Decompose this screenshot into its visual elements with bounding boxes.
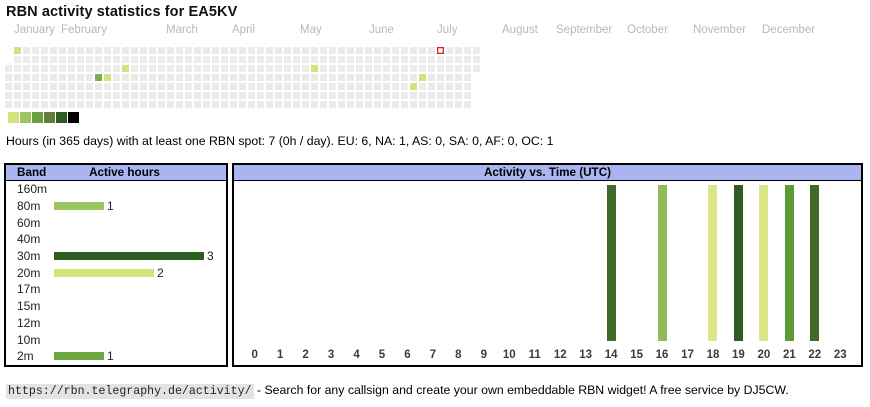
heatmap-day[interactable] bbox=[248, 56, 255, 63]
heatmap-day[interactable] bbox=[23, 92, 30, 99]
heatmap-day[interactable] bbox=[95, 56, 102, 63]
heatmap-day[interactable] bbox=[383, 92, 390, 99]
heatmap-day[interactable] bbox=[221, 65, 228, 72]
heatmap-day[interactable] bbox=[158, 65, 165, 72]
heatmap-day[interactable] bbox=[41, 83, 48, 90]
heatmap-day[interactable] bbox=[113, 56, 120, 63]
heatmap-day[interactable] bbox=[446, 65, 453, 72]
heatmap-day[interactable] bbox=[140, 92, 147, 99]
heatmap-day[interactable] bbox=[68, 65, 75, 72]
heatmap-day[interactable] bbox=[419, 56, 426, 63]
heatmap-day[interactable] bbox=[59, 101, 66, 108]
heatmap-day[interactable] bbox=[122, 56, 129, 63]
heatmap-day[interactable] bbox=[95, 83, 102, 90]
heatmap-day[interactable] bbox=[392, 47, 399, 54]
heatmap-day[interactable] bbox=[77, 56, 84, 63]
heatmap-day[interactable] bbox=[266, 56, 273, 63]
heatmap-day[interactable] bbox=[428, 92, 435, 99]
heatmap-day[interactable] bbox=[77, 47, 84, 54]
heatmap-day[interactable] bbox=[239, 101, 246, 108]
heatmap-day[interactable] bbox=[293, 65, 300, 72]
heatmap-day[interactable] bbox=[455, 92, 462, 99]
heatmap-day[interactable] bbox=[356, 83, 363, 90]
heatmap-day[interactable] bbox=[95, 65, 102, 72]
heatmap-day[interactable] bbox=[131, 47, 138, 54]
heatmap-day[interactable] bbox=[203, 74, 210, 81]
heatmap-day[interactable] bbox=[14, 101, 21, 108]
heatmap-day[interactable] bbox=[284, 47, 291, 54]
heatmap-day[interactable] bbox=[122, 83, 129, 90]
heatmap-day[interactable] bbox=[176, 47, 183, 54]
heatmap-day[interactable] bbox=[32, 101, 39, 108]
heatmap-day[interactable] bbox=[419, 47, 426, 54]
heatmap-day[interactable] bbox=[320, 101, 327, 108]
heatmap-day[interactable] bbox=[311, 56, 318, 63]
heatmap-day-active[interactable] bbox=[311, 65, 318, 72]
heatmap-day[interactable] bbox=[248, 83, 255, 90]
heatmap-day[interactable] bbox=[5, 83, 12, 90]
heatmap-day[interactable] bbox=[446, 83, 453, 90]
heatmap-day[interactable] bbox=[194, 56, 201, 63]
heatmap-day[interactable] bbox=[104, 65, 111, 72]
heatmap-day[interactable] bbox=[338, 92, 345, 99]
heatmap-day[interactable] bbox=[14, 65, 21, 72]
heatmap-day-active[interactable] bbox=[419, 74, 426, 81]
heatmap-day[interactable] bbox=[257, 74, 264, 81]
heatmap-day[interactable] bbox=[365, 74, 372, 81]
heatmap-day[interactable] bbox=[167, 92, 174, 99]
heatmap-day[interactable] bbox=[239, 65, 246, 72]
heatmap-day[interactable] bbox=[77, 83, 84, 90]
heatmap-day[interactable] bbox=[68, 47, 75, 54]
heatmap-day[interactable] bbox=[302, 83, 309, 90]
heatmap-day[interactable] bbox=[41, 74, 48, 81]
heatmap-day[interactable] bbox=[68, 92, 75, 99]
heatmap-day[interactable] bbox=[176, 74, 183, 81]
heatmap-day[interactable] bbox=[140, 101, 147, 108]
heatmap-day[interactable] bbox=[374, 74, 381, 81]
heatmap-day[interactable] bbox=[473, 47, 480, 54]
heatmap-day[interactable] bbox=[257, 83, 264, 90]
heatmap-day[interactable] bbox=[275, 92, 282, 99]
heatmap-day[interactable] bbox=[50, 56, 57, 63]
heatmap-day[interactable] bbox=[23, 65, 30, 72]
heatmap-day[interactable] bbox=[248, 92, 255, 99]
heatmap-day[interactable] bbox=[257, 92, 264, 99]
heatmap-day[interactable] bbox=[230, 74, 237, 81]
heatmap-day-active[interactable] bbox=[95, 74, 102, 81]
heatmap-day[interactable] bbox=[257, 47, 264, 54]
heatmap-day[interactable] bbox=[419, 101, 426, 108]
heatmap-day[interactable] bbox=[446, 101, 453, 108]
heatmap-day[interactable] bbox=[104, 101, 111, 108]
heatmap-day[interactable] bbox=[194, 92, 201, 99]
heatmap-day[interactable] bbox=[284, 92, 291, 99]
heatmap-day[interactable] bbox=[95, 101, 102, 108]
heatmap-day[interactable] bbox=[293, 92, 300, 99]
heatmap-day[interactable] bbox=[374, 83, 381, 90]
heatmap-day[interactable] bbox=[185, 83, 192, 90]
heatmap-day[interactable] bbox=[338, 47, 345, 54]
heatmap-day[interactable] bbox=[176, 101, 183, 108]
heatmap-day[interactable] bbox=[23, 83, 30, 90]
heatmap-day[interactable] bbox=[266, 101, 273, 108]
heatmap-day[interactable] bbox=[176, 56, 183, 63]
heatmap-day[interactable] bbox=[140, 56, 147, 63]
heatmap-day[interactable] bbox=[356, 65, 363, 72]
heatmap-day[interactable] bbox=[122, 74, 129, 81]
heatmap-day[interactable] bbox=[302, 65, 309, 72]
heatmap-day[interactable] bbox=[140, 47, 147, 54]
heatmap-day[interactable] bbox=[329, 65, 336, 72]
heatmap-day[interactable] bbox=[464, 101, 471, 108]
heatmap-day[interactable] bbox=[392, 92, 399, 99]
heatmap-day[interactable] bbox=[293, 101, 300, 108]
heatmap-day[interactable] bbox=[104, 92, 111, 99]
heatmap-day[interactable] bbox=[401, 56, 408, 63]
heatmap-day[interactable] bbox=[338, 65, 345, 72]
heatmap-day[interactable] bbox=[374, 65, 381, 72]
heatmap-day[interactable] bbox=[239, 56, 246, 63]
heatmap-day[interactable] bbox=[212, 74, 219, 81]
heatmap-day[interactable] bbox=[275, 83, 282, 90]
heatmap-day[interactable] bbox=[239, 92, 246, 99]
heatmap-day[interactable] bbox=[221, 92, 228, 99]
heatmap-day[interactable] bbox=[392, 83, 399, 90]
heatmap-day[interactable] bbox=[446, 92, 453, 99]
heatmap-day[interactable] bbox=[203, 47, 210, 54]
heatmap-day[interactable] bbox=[248, 101, 255, 108]
heatmap-day[interactable] bbox=[419, 65, 426, 72]
activity-bar[interactable] bbox=[759, 185, 768, 341]
heatmap-day-active[interactable] bbox=[122, 65, 129, 72]
heatmap-day[interactable] bbox=[284, 101, 291, 108]
heatmap-day[interactable] bbox=[455, 47, 462, 54]
activity-bar[interactable] bbox=[708, 185, 717, 341]
heatmap-day[interactable] bbox=[203, 92, 210, 99]
heatmap-day[interactable] bbox=[185, 92, 192, 99]
heatmap-day[interactable] bbox=[437, 74, 444, 81]
heatmap-day[interactable] bbox=[455, 65, 462, 72]
heatmap-day[interactable] bbox=[464, 56, 471, 63]
heatmap-day[interactable] bbox=[275, 47, 282, 54]
heatmap-day[interactable] bbox=[473, 65, 480, 72]
heatmap-day[interactable] bbox=[302, 101, 309, 108]
heatmap-day[interactable] bbox=[86, 83, 93, 90]
heatmap-day[interactable] bbox=[410, 101, 417, 108]
heatmap-day[interactable] bbox=[104, 47, 111, 54]
heatmap-day[interactable] bbox=[437, 65, 444, 72]
heatmap-day[interactable] bbox=[113, 65, 120, 72]
heatmap-day[interactable] bbox=[455, 56, 462, 63]
heatmap-day[interactable] bbox=[32, 83, 39, 90]
heatmap-day[interactable] bbox=[365, 65, 372, 72]
heatmap-day[interactable] bbox=[320, 83, 327, 90]
heatmap-day[interactable] bbox=[230, 92, 237, 99]
heatmap-day[interactable] bbox=[284, 65, 291, 72]
heatmap-day[interactable] bbox=[428, 74, 435, 81]
heatmap-day[interactable] bbox=[194, 101, 201, 108]
heatmap-day[interactable] bbox=[464, 47, 471, 54]
heatmap-day[interactable] bbox=[149, 56, 156, 63]
heatmap-day[interactable] bbox=[221, 47, 228, 54]
heatmap-day[interactable] bbox=[203, 101, 210, 108]
heatmap-day[interactable] bbox=[419, 92, 426, 99]
heatmap-day[interactable] bbox=[68, 56, 75, 63]
heatmap-day[interactable] bbox=[77, 74, 84, 81]
heatmap-day[interactable] bbox=[221, 101, 228, 108]
heatmap-day[interactable] bbox=[77, 101, 84, 108]
heatmap-day[interactable] bbox=[185, 101, 192, 108]
heatmap-day[interactable] bbox=[284, 56, 291, 63]
activity-bar[interactable] bbox=[607, 185, 616, 341]
heatmap-day[interactable] bbox=[86, 56, 93, 63]
heatmap-day[interactable] bbox=[401, 83, 408, 90]
heatmap-day[interactable] bbox=[149, 101, 156, 108]
heatmap-day[interactable] bbox=[158, 74, 165, 81]
heatmap-day[interactable] bbox=[401, 101, 408, 108]
heatmap-day[interactable] bbox=[446, 56, 453, 63]
heatmap-day[interactable] bbox=[140, 83, 147, 90]
heatmap-day[interactable] bbox=[59, 74, 66, 81]
heatmap-day[interactable] bbox=[230, 65, 237, 72]
heatmap-day[interactable] bbox=[41, 92, 48, 99]
heatmap-day[interactable] bbox=[230, 56, 237, 63]
heatmap-day[interactable] bbox=[338, 56, 345, 63]
heatmap-day[interactable] bbox=[23, 56, 30, 63]
heatmap-day[interactable] bbox=[41, 101, 48, 108]
heatmap-day[interactable] bbox=[113, 92, 120, 99]
heatmap-day[interactable] bbox=[419, 83, 426, 90]
heatmap-day[interactable] bbox=[194, 83, 201, 90]
heatmap-day[interactable] bbox=[329, 74, 336, 81]
heatmap-day[interactable] bbox=[464, 65, 471, 72]
heatmap-day[interactable] bbox=[167, 101, 174, 108]
heatmap-day[interactable] bbox=[86, 92, 93, 99]
heatmap-day[interactable] bbox=[374, 101, 381, 108]
heatmap-day[interactable] bbox=[428, 83, 435, 90]
heatmap-day[interactable] bbox=[347, 65, 354, 72]
heatmap-day[interactable] bbox=[212, 92, 219, 99]
heatmap-day[interactable] bbox=[5, 74, 12, 81]
heatmap-day[interactable] bbox=[365, 101, 372, 108]
heatmap-day[interactable] bbox=[320, 65, 327, 72]
heatmap-day[interactable] bbox=[320, 74, 327, 81]
heatmap-day[interactable] bbox=[383, 101, 390, 108]
heatmap-day[interactable] bbox=[374, 56, 381, 63]
heatmap-day[interactable] bbox=[23, 74, 30, 81]
heatmap-day[interactable] bbox=[230, 101, 237, 108]
heatmap-day[interactable] bbox=[140, 74, 147, 81]
heatmap-day[interactable] bbox=[212, 56, 219, 63]
heatmap-day[interactable] bbox=[293, 56, 300, 63]
heatmap-day[interactable] bbox=[167, 56, 174, 63]
heatmap-day[interactable] bbox=[212, 101, 219, 108]
heatmap-day[interactable] bbox=[149, 92, 156, 99]
heatmap-day[interactable] bbox=[374, 47, 381, 54]
heatmap-day[interactable] bbox=[329, 47, 336, 54]
heatmap-day[interactable] bbox=[230, 47, 237, 54]
heatmap-day[interactable] bbox=[320, 56, 327, 63]
heatmap-day[interactable] bbox=[104, 83, 111, 90]
heatmap-day[interactable] bbox=[149, 83, 156, 90]
heatmap-day[interactable] bbox=[428, 65, 435, 72]
heatmap-day[interactable] bbox=[401, 92, 408, 99]
heatmap-day[interactable] bbox=[239, 47, 246, 54]
heatmap-day[interactable] bbox=[437, 92, 444, 99]
heatmap-day[interactable] bbox=[311, 83, 318, 90]
activity-bar[interactable] bbox=[810, 185, 819, 341]
heatmap-day[interactable] bbox=[230, 83, 237, 90]
heatmap-day[interactable] bbox=[59, 92, 66, 99]
heatmap-day[interactable] bbox=[167, 74, 174, 81]
heatmap-day[interactable] bbox=[113, 101, 120, 108]
heatmap-day[interactable] bbox=[50, 47, 57, 54]
heatmap-day[interactable] bbox=[149, 47, 156, 54]
heatmap-day-active[interactable] bbox=[410, 83, 417, 90]
heatmap-day[interactable] bbox=[257, 65, 264, 72]
heatmap-day[interactable] bbox=[365, 56, 372, 63]
heatmap-day[interactable] bbox=[86, 74, 93, 81]
heatmap-day[interactable] bbox=[356, 101, 363, 108]
heatmap-day[interactable] bbox=[131, 74, 138, 81]
heatmap-day[interactable] bbox=[410, 56, 417, 63]
heatmap-day[interactable] bbox=[194, 74, 201, 81]
heatmap-day[interactable] bbox=[86, 47, 93, 54]
heatmap-day[interactable] bbox=[185, 56, 192, 63]
heatmap-day[interactable] bbox=[347, 92, 354, 99]
heatmap-day[interactable] bbox=[194, 65, 201, 72]
heatmap-day[interactable] bbox=[113, 83, 120, 90]
heatmap-day[interactable] bbox=[266, 83, 273, 90]
heatmap-day[interactable] bbox=[329, 92, 336, 99]
heatmap-day[interactable] bbox=[284, 74, 291, 81]
heatmap-day[interactable] bbox=[347, 83, 354, 90]
heatmap-day[interactable] bbox=[338, 101, 345, 108]
heatmap-day[interactable] bbox=[356, 92, 363, 99]
heatmap-day-active[interactable] bbox=[14, 47, 21, 54]
heatmap-day[interactable] bbox=[212, 47, 219, 54]
heatmap-day[interactable] bbox=[347, 56, 354, 63]
heatmap-day[interactable] bbox=[473, 56, 480, 63]
heatmap-day[interactable] bbox=[59, 65, 66, 72]
heatmap-day[interactable] bbox=[14, 74, 21, 81]
heatmap-day[interactable] bbox=[131, 92, 138, 99]
heatmap-day[interactable] bbox=[5, 65, 12, 72]
heatmap-day[interactable] bbox=[131, 56, 138, 63]
heatmap-day[interactable] bbox=[32, 92, 39, 99]
heatmap-day[interactable] bbox=[347, 101, 354, 108]
heatmap-day[interactable] bbox=[131, 83, 138, 90]
heatmap-day[interactable] bbox=[176, 83, 183, 90]
heatmap-day[interactable] bbox=[464, 74, 471, 81]
heatmap-day[interactable] bbox=[23, 47, 30, 54]
heatmap-day[interactable] bbox=[68, 101, 75, 108]
heatmap-day[interactable] bbox=[158, 101, 165, 108]
heatmap-day[interactable] bbox=[257, 56, 264, 63]
heatmap-day[interactable] bbox=[5, 92, 12, 99]
heatmap-day[interactable] bbox=[410, 74, 417, 81]
heatmap-day[interactable] bbox=[266, 65, 273, 72]
heatmap-day[interactable] bbox=[347, 47, 354, 54]
heatmap-day[interactable] bbox=[356, 56, 363, 63]
heatmap-day[interactable] bbox=[212, 83, 219, 90]
heatmap-day[interactable] bbox=[428, 47, 435, 54]
heatmap-day[interactable] bbox=[275, 101, 282, 108]
heatmap-day[interactable] bbox=[329, 56, 336, 63]
heatmap-day[interactable] bbox=[383, 47, 390, 54]
heatmap-day[interactable] bbox=[86, 65, 93, 72]
activity-bar[interactable] bbox=[785, 185, 794, 341]
heatmap-day[interactable] bbox=[464, 83, 471, 90]
heatmap-day[interactable] bbox=[131, 65, 138, 72]
heatmap-day[interactable] bbox=[149, 65, 156, 72]
heatmap-day[interactable] bbox=[203, 65, 210, 72]
heatmap-day[interactable] bbox=[50, 101, 57, 108]
heatmap-day[interactable] bbox=[266, 92, 273, 99]
heatmap-day[interactable] bbox=[185, 65, 192, 72]
heatmap-day[interactable] bbox=[302, 56, 309, 63]
heatmap-day[interactable] bbox=[23, 101, 30, 108]
heatmap-day[interactable] bbox=[302, 92, 309, 99]
heatmap-day[interactable] bbox=[248, 65, 255, 72]
heatmap-day[interactable] bbox=[14, 83, 21, 90]
heatmap-day[interactable] bbox=[338, 74, 345, 81]
footer-url-link[interactable]: https://rbn.telegraphy.de/activity/ bbox=[6, 384, 254, 399]
heatmap-day[interactable] bbox=[248, 74, 255, 81]
heatmap-day[interactable] bbox=[32, 56, 39, 63]
heatmap-day[interactable] bbox=[149, 74, 156, 81]
heatmap-day[interactable] bbox=[428, 56, 435, 63]
heatmap-day[interactable] bbox=[77, 65, 84, 72]
heatmap-day[interactable] bbox=[293, 47, 300, 54]
heatmap-day[interactable] bbox=[14, 56, 21, 63]
heatmap-day[interactable] bbox=[59, 47, 66, 54]
heatmap-day[interactable] bbox=[140, 65, 147, 72]
heatmap-day[interactable] bbox=[95, 92, 102, 99]
heatmap-day[interactable] bbox=[203, 56, 210, 63]
heatmap-day[interactable] bbox=[113, 74, 120, 81]
heatmap-day[interactable] bbox=[32, 47, 39, 54]
heatmap-day[interactable] bbox=[32, 65, 39, 72]
heatmap-day[interactable] bbox=[446, 74, 453, 81]
heatmap-day[interactable] bbox=[338, 83, 345, 90]
heatmap-day[interactable] bbox=[392, 101, 399, 108]
heatmap-day[interactable] bbox=[383, 74, 390, 81]
heatmap-day[interactable] bbox=[32, 74, 39, 81]
heatmap-day[interactable] bbox=[122, 101, 129, 108]
heatmap-day[interactable] bbox=[455, 74, 462, 81]
heatmap-day[interactable] bbox=[50, 83, 57, 90]
heatmap-day[interactable] bbox=[77, 92, 84, 99]
heatmap-day[interactable] bbox=[167, 83, 174, 90]
heatmap-day[interactable] bbox=[158, 47, 165, 54]
heatmap-day[interactable] bbox=[311, 74, 318, 81]
heatmap-day[interactable] bbox=[293, 83, 300, 90]
heatmap-day[interactable] bbox=[50, 92, 57, 99]
heatmap-day[interactable] bbox=[68, 83, 75, 90]
heatmap-day[interactable] bbox=[104, 56, 111, 63]
heatmap-day[interactable] bbox=[455, 83, 462, 90]
heatmap-day[interactable] bbox=[68, 74, 75, 81]
heatmap-day[interactable] bbox=[356, 47, 363, 54]
heatmap-day[interactable] bbox=[95, 47, 102, 54]
heatmap-day[interactable] bbox=[401, 74, 408, 81]
heatmap-day[interactable] bbox=[266, 74, 273, 81]
heatmap-day[interactable] bbox=[221, 83, 228, 90]
heatmap-day[interactable] bbox=[176, 65, 183, 72]
heatmap-day[interactable] bbox=[167, 65, 174, 72]
